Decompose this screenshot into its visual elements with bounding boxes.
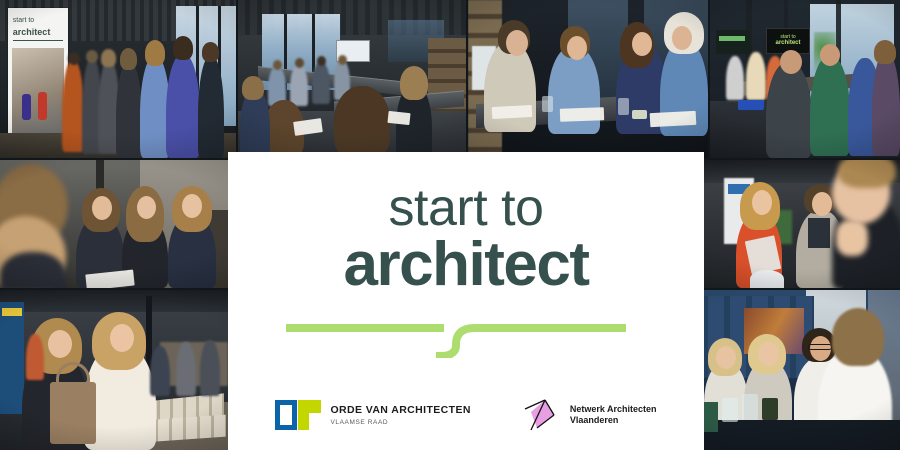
photo-seated-audience bbox=[0, 160, 228, 288]
green-underline-swoosh bbox=[284, 322, 628, 358]
photo-expo-booths bbox=[0, 290, 228, 450]
partner-name-line1: Netwerk Architecten bbox=[570, 404, 657, 415]
partner-logo-netwerk-architecten-vlaanderen[interactable]: Netwerk Architecten Vlaanderen bbox=[521, 398, 657, 432]
partner-name-line2: VLAAMSE RAAD bbox=[330, 419, 470, 426]
brand-line-start-to: start to bbox=[228, 182, 704, 234]
brand-card: start to architect ORDE VAN ARCHITECTEN … bbox=[228, 152, 704, 450]
photo-networking-pair bbox=[704, 160, 900, 288]
photo-entrance-hall: start to architect bbox=[0, 0, 236, 158]
event-collage-banner: start to architect bbox=[0, 0, 900, 450]
photo-screen-room: start to architect bbox=[710, 0, 900, 158]
orde-van-architecten-mark-icon bbox=[275, 400, 321, 430]
partner-name-line2: Vlaanderen bbox=[570, 415, 657, 426]
green-square-icon bbox=[298, 400, 321, 430]
partner-logo-orde-van-architecten[interactable]: ORDE VAN ARCHITECTEN VLAAMSE RAAD bbox=[275, 400, 470, 430]
partner-name-line1: ORDE VAN ARCHITECTEN bbox=[330, 404, 470, 416]
blue-square-icon bbox=[275, 400, 297, 430]
brand-line-architect: architect bbox=[228, 234, 704, 296]
photo-four-students-talking bbox=[468, 0, 708, 158]
partner-logos-row: ORDE VAN ARCHITECTEN VLAAMSE RAAD Netwe bbox=[228, 398, 704, 432]
photo-long-table-session bbox=[238, 0, 466, 158]
pink-kite-mark-icon bbox=[521, 398, 561, 432]
